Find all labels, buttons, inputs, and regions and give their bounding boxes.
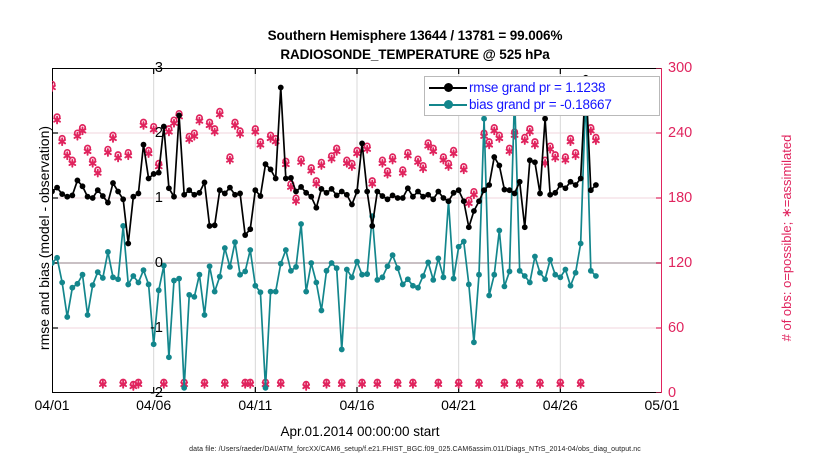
x-axis-label: Apr.01.2014 00:00:00 start bbox=[0, 424, 720, 439]
x-tick-05-01: 05/01 bbox=[644, 397, 679, 413]
x-tick-04-26: 04/26 bbox=[543, 397, 578, 413]
legend-label-bias: bias grand pr = -0.18667 bbox=[469, 97, 612, 112]
legend-swatch-bias bbox=[429, 97, 467, 113]
data-file-caption: data file: /Users/raeder/DAI/ATM_forcXX/… bbox=[0, 446, 830, 453]
y-axis-right-label: # of obs: o=possible; ∗=assimilated bbox=[779, 73, 795, 403]
x-tick-04-11: 04/11 bbox=[238, 397, 272, 413]
x-tick-04-21: 04/21 bbox=[441, 397, 476, 413]
legend-swatch-rmse bbox=[429, 80, 467, 96]
y-right-tick-240: 240 bbox=[668, 125, 708, 141]
plot-frame bbox=[52, 68, 662, 393]
y-right-tick-300: 300 bbox=[668, 60, 708, 76]
x-tick-04-16: 04/16 bbox=[339, 397, 374, 413]
y-left-tick-1: 1 bbox=[123, 190, 163, 206]
y-right-tick-180: 180 bbox=[668, 190, 708, 206]
chart-legend: rmse grand pr = 1.1238 bias grand pr = -… bbox=[424, 76, 660, 116]
chart-title: Southern Hemisphere 13644 / 13781 = 99.0… bbox=[0, 26, 830, 64]
legend-item-bias: bias grand pr = -0.18667 bbox=[429, 96, 655, 113]
legend-label-rmse: rmse grand pr = 1.1238 bbox=[469, 80, 605, 95]
title-line-1: Southern Hemisphere 13644 / 13781 = 99.0… bbox=[268, 28, 563, 43]
y-left-tick-2: 2 bbox=[123, 125, 163, 141]
x-tick-04-06: 04/06 bbox=[136, 397, 171, 413]
y-left-tick-0: 0 bbox=[123, 255, 163, 271]
legend-item-rmse: rmse grand pr = 1.1238 bbox=[429, 79, 655, 96]
figure-canvas: Southern Hemisphere 13644 / 13781 = 99.0… bbox=[0, 0, 830, 470]
y-right-tick-60: 60 bbox=[668, 320, 708, 336]
y-left-tick-3: 3 bbox=[123, 60, 163, 76]
y-axis-left-label: rmse and bias (model - observation) bbox=[36, 73, 52, 403]
y-right-tick-120: 120 bbox=[668, 255, 708, 271]
y-left-tick--1: -1 bbox=[123, 320, 163, 336]
